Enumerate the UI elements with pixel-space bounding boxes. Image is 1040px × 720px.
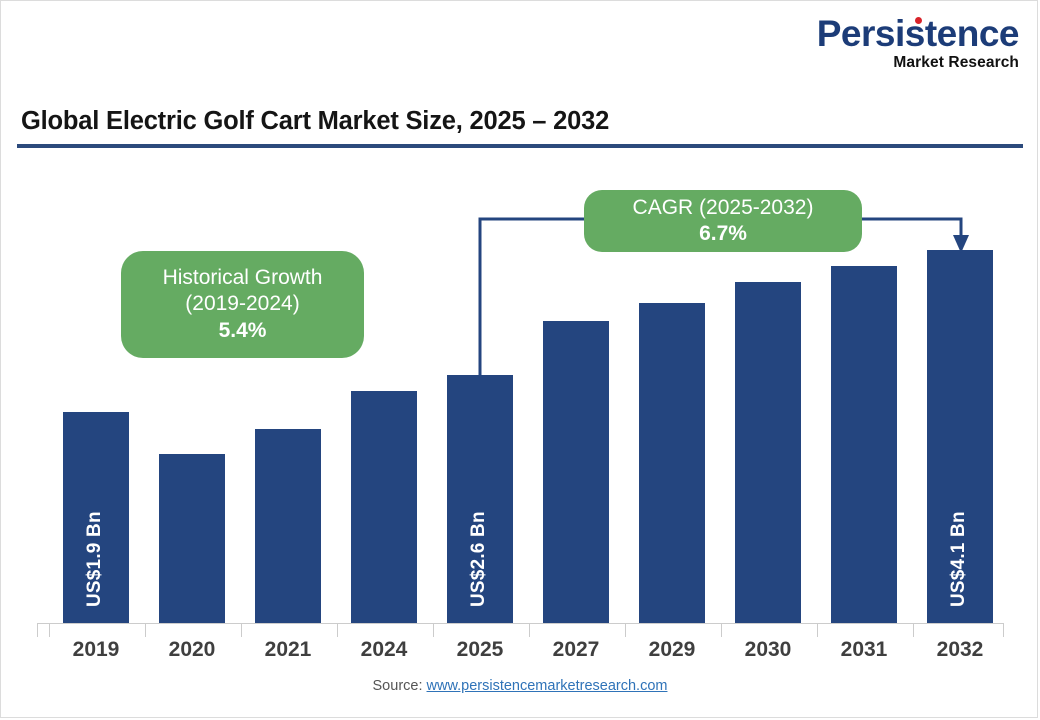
axis-tick	[241, 623, 242, 637]
bar-2029	[639, 303, 705, 623]
source-link[interactable]: www.persistencemarketresearch.com	[427, 678, 668, 694]
bar-2021	[255, 429, 321, 623]
x-axis-label-2025: 2025	[432, 638, 528, 662]
bar-2024	[351, 391, 417, 623]
x-axis-label-2020: 2020	[144, 638, 240, 662]
chart-card: Persistence Market Research Global Elect…	[0, 0, 1038, 718]
source-note: Source: www.persistencemarketresearch.co…	[1, 678, 1038, 694]
axis-tick	[913, 623, 914, 637]
cagr-value: 6.7%	[699, 221, 747, 247]
bar-2020	[159, 454, 225, 623]
bar-2027	[543, 321, 609, 623]
historical-growth-callout: Historical Growth (2019-2024) 5.4%	[121, 251, 364, 358]
bar-chart-plot: US$1.9 BnUS$2.6 BnUS$4.1 Bn 201920202021…	[1, 1, 1038, 718]
bar-2031	[831, 266, 897, 623]
axis-tick	[529, 623, 530, 637]
cagr-title: CAGR (2025-2032)	[633, 195, 814, 221]
historical-growth-title: Historical Growth	[163, 265, 323, 291]
x-axis-label-2027: 2027	[528, 638, 624, 662]
bar-value-label-2025: US$2.6 Bn	[468, 511, 490, 607]
x-axis-label-2029: 2029	[624, 638, 720, 662]
axis-tick	[145, 623, 146, 637]
axis-tick	[49, 623, 50, 637]
historical-growth-value: 5.4%	[219, 318, 267, 344]
axis-tick	[721, 623, 722, 637]
bar-value-label-2032: US$4.1 Bn	[948, 511, 970, 607]
cagr-callout: CAGR (2025-2032) 6.7%	[584, 190, 862, 252]
x-axis-label-2031: 2031	[816, 638, 912, 662]
bar-2030	[735, 282, 801, 623]
axis-tick	[433, 623, 434, 637]
source-prefix: Source:	[373, 678, 427, 694]
x-axis-label-2021: 2021	[240, 638, 336, 662]
axis-tick	[817, 623, 818, 637]
x-axis-label-2019: 2019	[48, 638, 144, 662]
x-axis-label-2032: 2032	[912, 638, 1008, 662]
axis-tick	[625, 623, 626, 637]
axis-tick	[337, 623, 338, 637]
x-axis-line	[37, 623, 1003, 624]
x-axis-label-2024: 2024	[336, 638, 432, 662]
axis-tick	[37, 623, 38, 637]
bar-value-label-2019: US$1.9 Bn	[84, 511, 106, 607]
axis-tick	[1003, 623, 1004, 637]
x-axis-label-2030: 2030	[720, 638, 816, 662]
historical-growth-period: (2019-2024)	[185, 291, 299, 317]
